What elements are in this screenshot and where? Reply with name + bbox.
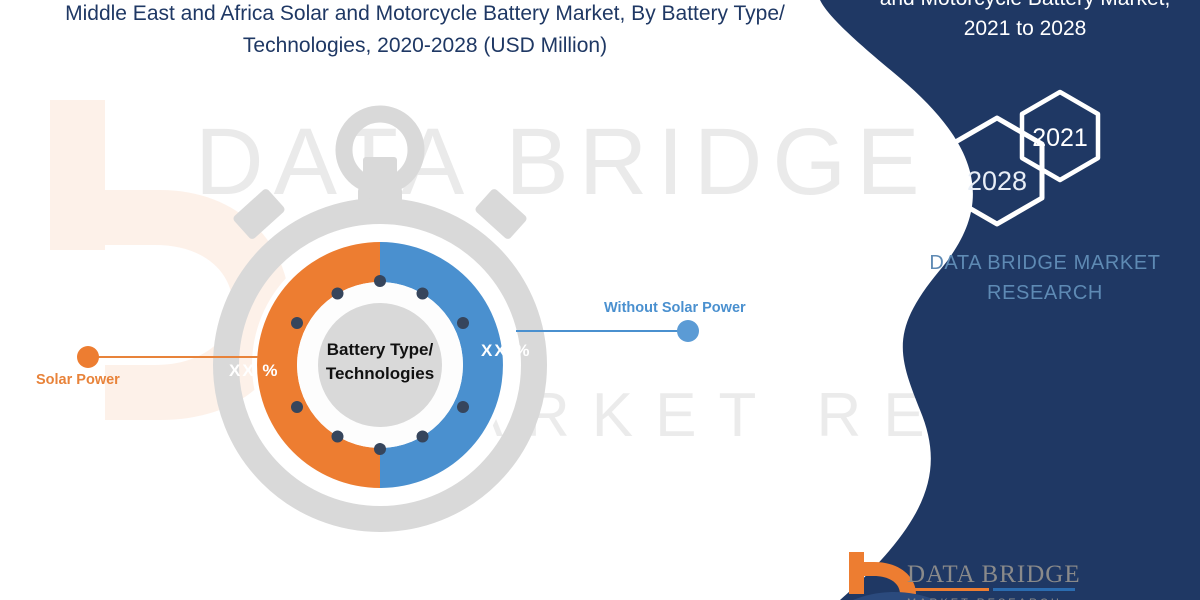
legend-dot-without-solar-power (677, 320, 699, 342)
legend-label-without-solar-power: Without Solar Power (604, 300, 746, 316)
legend-dot-solar-power (77, 346, 99, 368)
legend-label-solar-power: Solar Power (36, 372, 120, 388)
legend-connectors (0, 0, 1200, 600)
infographic-canvas: DATA BRIDGE MARKET RESEARCH and Motorcyc… (0, 0, 1200, 600)
